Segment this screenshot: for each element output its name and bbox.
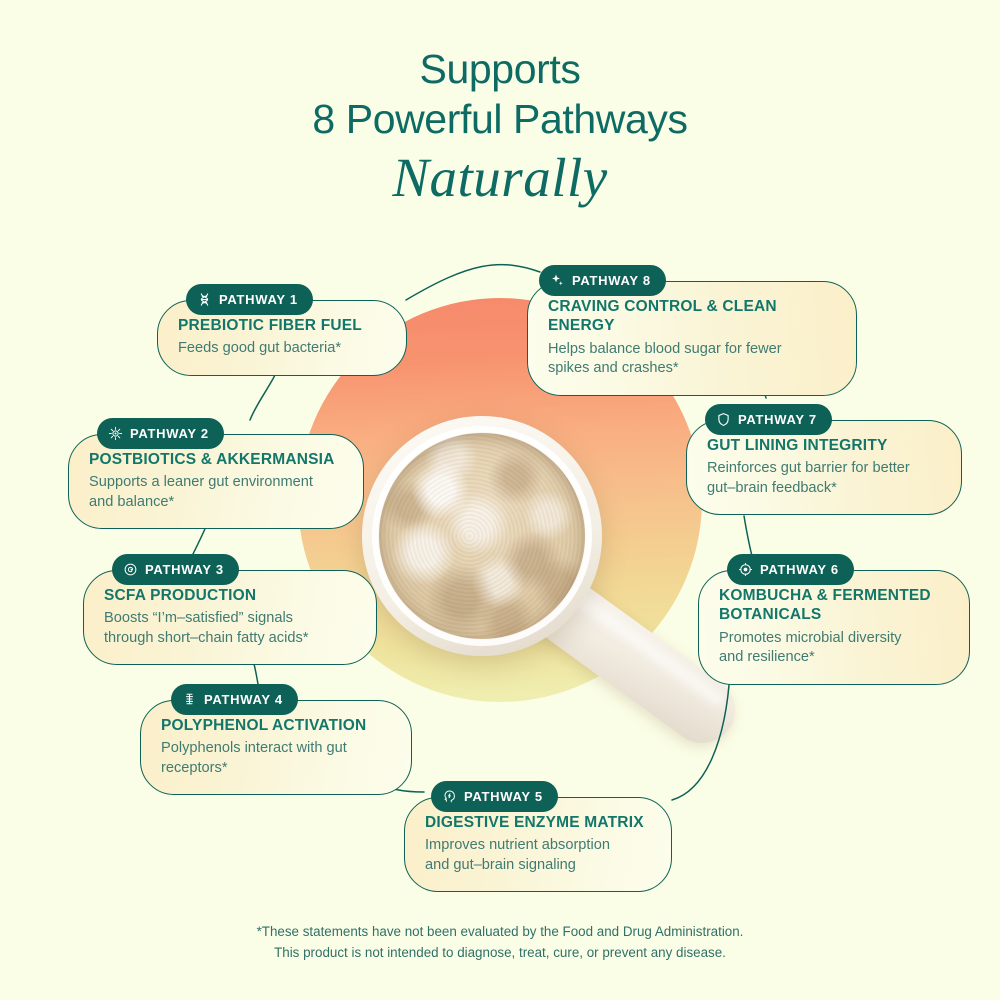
pathway-title-5: DIGESTIVE ENZYME MATRIX [425, 813, 651, 832]
pathway-title-6: KOMBUCHA & FERMENTED BOTANICALS [719, 586, 949, 625]
intestine-icon [182, 692, 197, 707]
pathway-desc-5: Improves nutrient absorption and gut–bra… [425, 836, 651, 875]
disclaimer: *These statements have not been evaluate… [0, 922, 1000, 964]
pathway-card-6[interactable]: PATHWAY 6 KOMBUCHA & FERMENTED BOTANICAL… [698, 570, 970, 685]
infographic-canvas: Supports 8 Powerful Pathways Naturally [0, 0, 1000, 1000]
radial-burst-icon [738, 562, 753, 577]
shield-icon [716, 412, 731, 427]
brain-head-icon [442, 789, 457, 804]
pathway-title-7: GUT LINING INTEGRITY [707, 436, 941, 455]
pathway-badge-1: PATHWAY 1 [186, 284, 313, 315]
title-line-2: 8 Powerful Pathways [0, 94, 1000, 144]
spiral-icon [123, 562, 138, 577]
title-script-naturally: Naturally [0, 146, 1000, 209]
pathway-card-3[interactable]: PATHWAY 3 SCFA PRODUCTION Boosts “I’m–sa… [83, 570, 377, 665]
pathway-title-1: PREBIOTIC FIBER FUEL [178, 316, 386, 335]
microbe-icon [108, 426, 123, 441]
pathway-title-2: POSTBIOTICS & AKKERMANSIA [89, 450, 343, 469]
disclaimer-line-1: *These statements have not been evaluate… [0, 922, 1000, 943]
pathway-card-2[interactable]: PATHWAY 2 POSTBIOTICS & AKKERMANSIA Supp… [68, 434, 364, 529]
scoop-cup [362, 416, 602, 656]
scoop-rim [372, 426, 592, 646]
pathway-badge-8: PATHWAY 8 [539, 265, 666, 296]
pathway-badge-2: PATHWAY 2 [97, 418, 224, 449]
pathway-badge-label-5: PATHWAY 5 [464, 789, 543, 804]
pathway-card-7[interactable]: PATHWAY 7 GUT LINING INTEGRITY Reinforce… [686, 420, 962, 515]
pathway-card-1[interactable]: PATHWAY 1 PREBIOTIC FIBER FUEL Feeds goo… [157, 300, 407, 376]
pathway-badge-label-6: PATHWAY 6 [760, 562, 839, 577]
pathway-badge-label-7: PATHWAY 7 [738, 412, 817, 427]
pathway-badge-label-1: PATHWAY 1 [219, 292, 298, 307]
pathway-badge-3: PATHWAY 3 [112, 554, 239, 585]
title-line-1: Supports [0, 44, 1000, 94]
pathway-desc-8: Helps balance blood sugar for fewer spik… [548, 340, 836, 379]
pathway-desc-7: Reinforces gut barrier for better gut–br… [707, 459, 941, 498]
pathway-card-8[interactable]: PATHWAY 8 CRAVING CONTROL & CLEAN ENERGY… [527, 281, 857, 396]
dna-helix-icon [197, 292, 212, 307]
pathway-badge-label-4: PATHWAY 4 [204, 692, 283, 707]
pathway-badge-label-2: PATHWAY 2 [130, 426, 209, 441]
pathway-badge-7: PATHWAY 7 [705, 404, 832, 435]
pathway-card-5[interactable]: PATHWAY 5 DIGESTIVE ENZYME MATRIX Improv… [404, 797, 672, 892]
pathway-badge-5: PATHWAY 5 [431, 781, 558, 812]
pathway-desc-3: Boosts “I’m–satisfied” signals through s… [104, 609, 356, 648]
page-title: Supports 8 Powerful Pathways Naturally [0, 44, 1000, 209]
pathway-badge-label-3: PATHWAY 3 [145, 562, 224, 577]
pathway-desc-6: Promotes microbial diversity and resilie… [719, 629, 949, 668]
pathway-card-4[interactable]: PATHWAY 4 POLYPHENOL ACTIVATION Polyphen… [140, 700, 412, 795]
pathway-badge-label-8: PATHWAY 8 [572, 273, 651, 288]
pathway-badge-6: PATHWAY 6 [727, 554, 854, 585]
pathway-desc-4: Polyphenols interact with gut receptors* [161, 739, 391, 778]
pathway-title-4: POLYPHENOL ACTIVATION [161, 716, 391, 735]
pathway-badge-4: PATHWAY 4 [171, 684, 298, 715]
disclaimer-line-2: This product is not intended to diagnose… [0, 943, 1000, 964]
pathway-desc-2: Supports a leaner gut environment and ba… [89, 473, 343, 512]
pathway-desc-1: Feeds good gut bacteria* [178, 339, 386, 358]
sparkle-icon [550, 273, 565, 288]
pathway-title-3: SCFA PRODUCTION [104, 586, 356, 605]
pathway-title-8: CRAVING CONTROL & CLEAN ENERGY [548, 297, 836, 336]
